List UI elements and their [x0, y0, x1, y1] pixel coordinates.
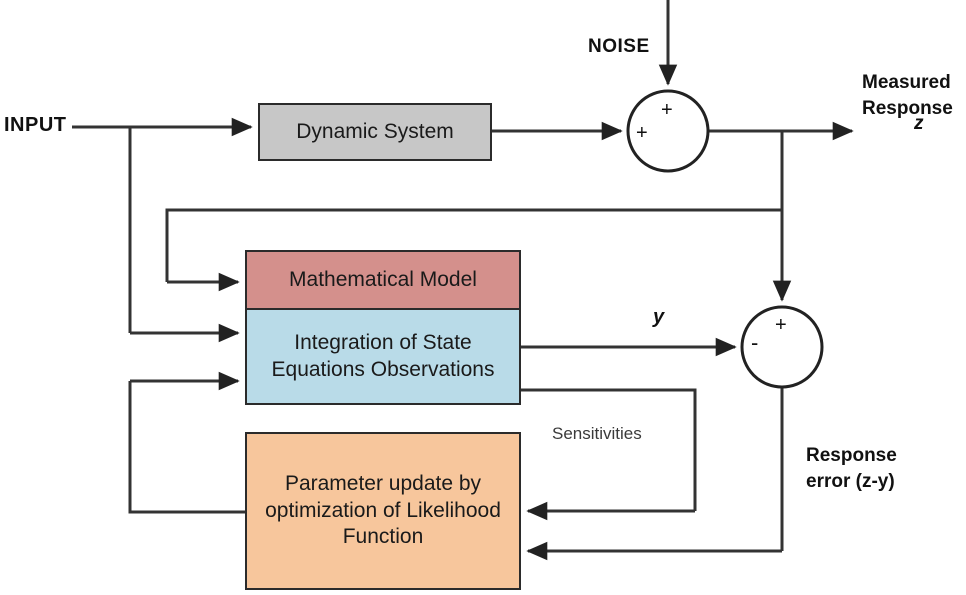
block-dynamic-system-label: Dynamic System — [260, 119, 490, 146]
block-parameter-update-label: Parameter update by optimization of Like… — [247, 471, 519, 552]
error-sum-minus-left-sign: - — [751, 332, 758, 354]
wire-param-update-feedback-trunk — [130, 381, 245, 512]
label-noise: NOISE — [588, 36, 650, 58]
label-measured-response-symbol: z — [914, 113, 924, 135]
block-mathematical-model[interactable]: Mathematical Model — [245, 250, 521, 310]
noise-sum-plus-top-sign: + — [661, 100, 673, 120]
label-measured-response: Measured Response — [862, 70, 953, 121]
label-sensitivities: Sensitivities — [552, 424, 642, 444]
block-diagram-canvas: Dynamic System Mathematical Model Integr… — [0, 0, 966, 595]
noise-sum-plus-left-sign: + — [636, 123, 648, 143]
block-dynamic-system[interactable]: Dynamic System — [258, 103, 492, 161]
block-parameter-update[interactable]: Parameter update by optimization of Like… — [245, 432, 521, 590]
block-integration-label: Integration of State Equations Observati… — [247, 330, 519, 384]
error-sum-plus-top-sign: + — [775, 315, 787, 335]
label-input: INPUT — [4, 114, 67, 137]
block-integration-of-state-equations[interactable]: Integration of State Equations Observati… — [245, 310, 521, 405]
block-mathematical-model-label: Mathematical Model — [247, 267, 519, 294]
label-model-output-symbol: y — [653, 306, 664, 329]
label-response-error: Response error (z-y) — [806, 443, 897, 494]
wire-sensitivities-trunk — [521, 390, 695, 511]
